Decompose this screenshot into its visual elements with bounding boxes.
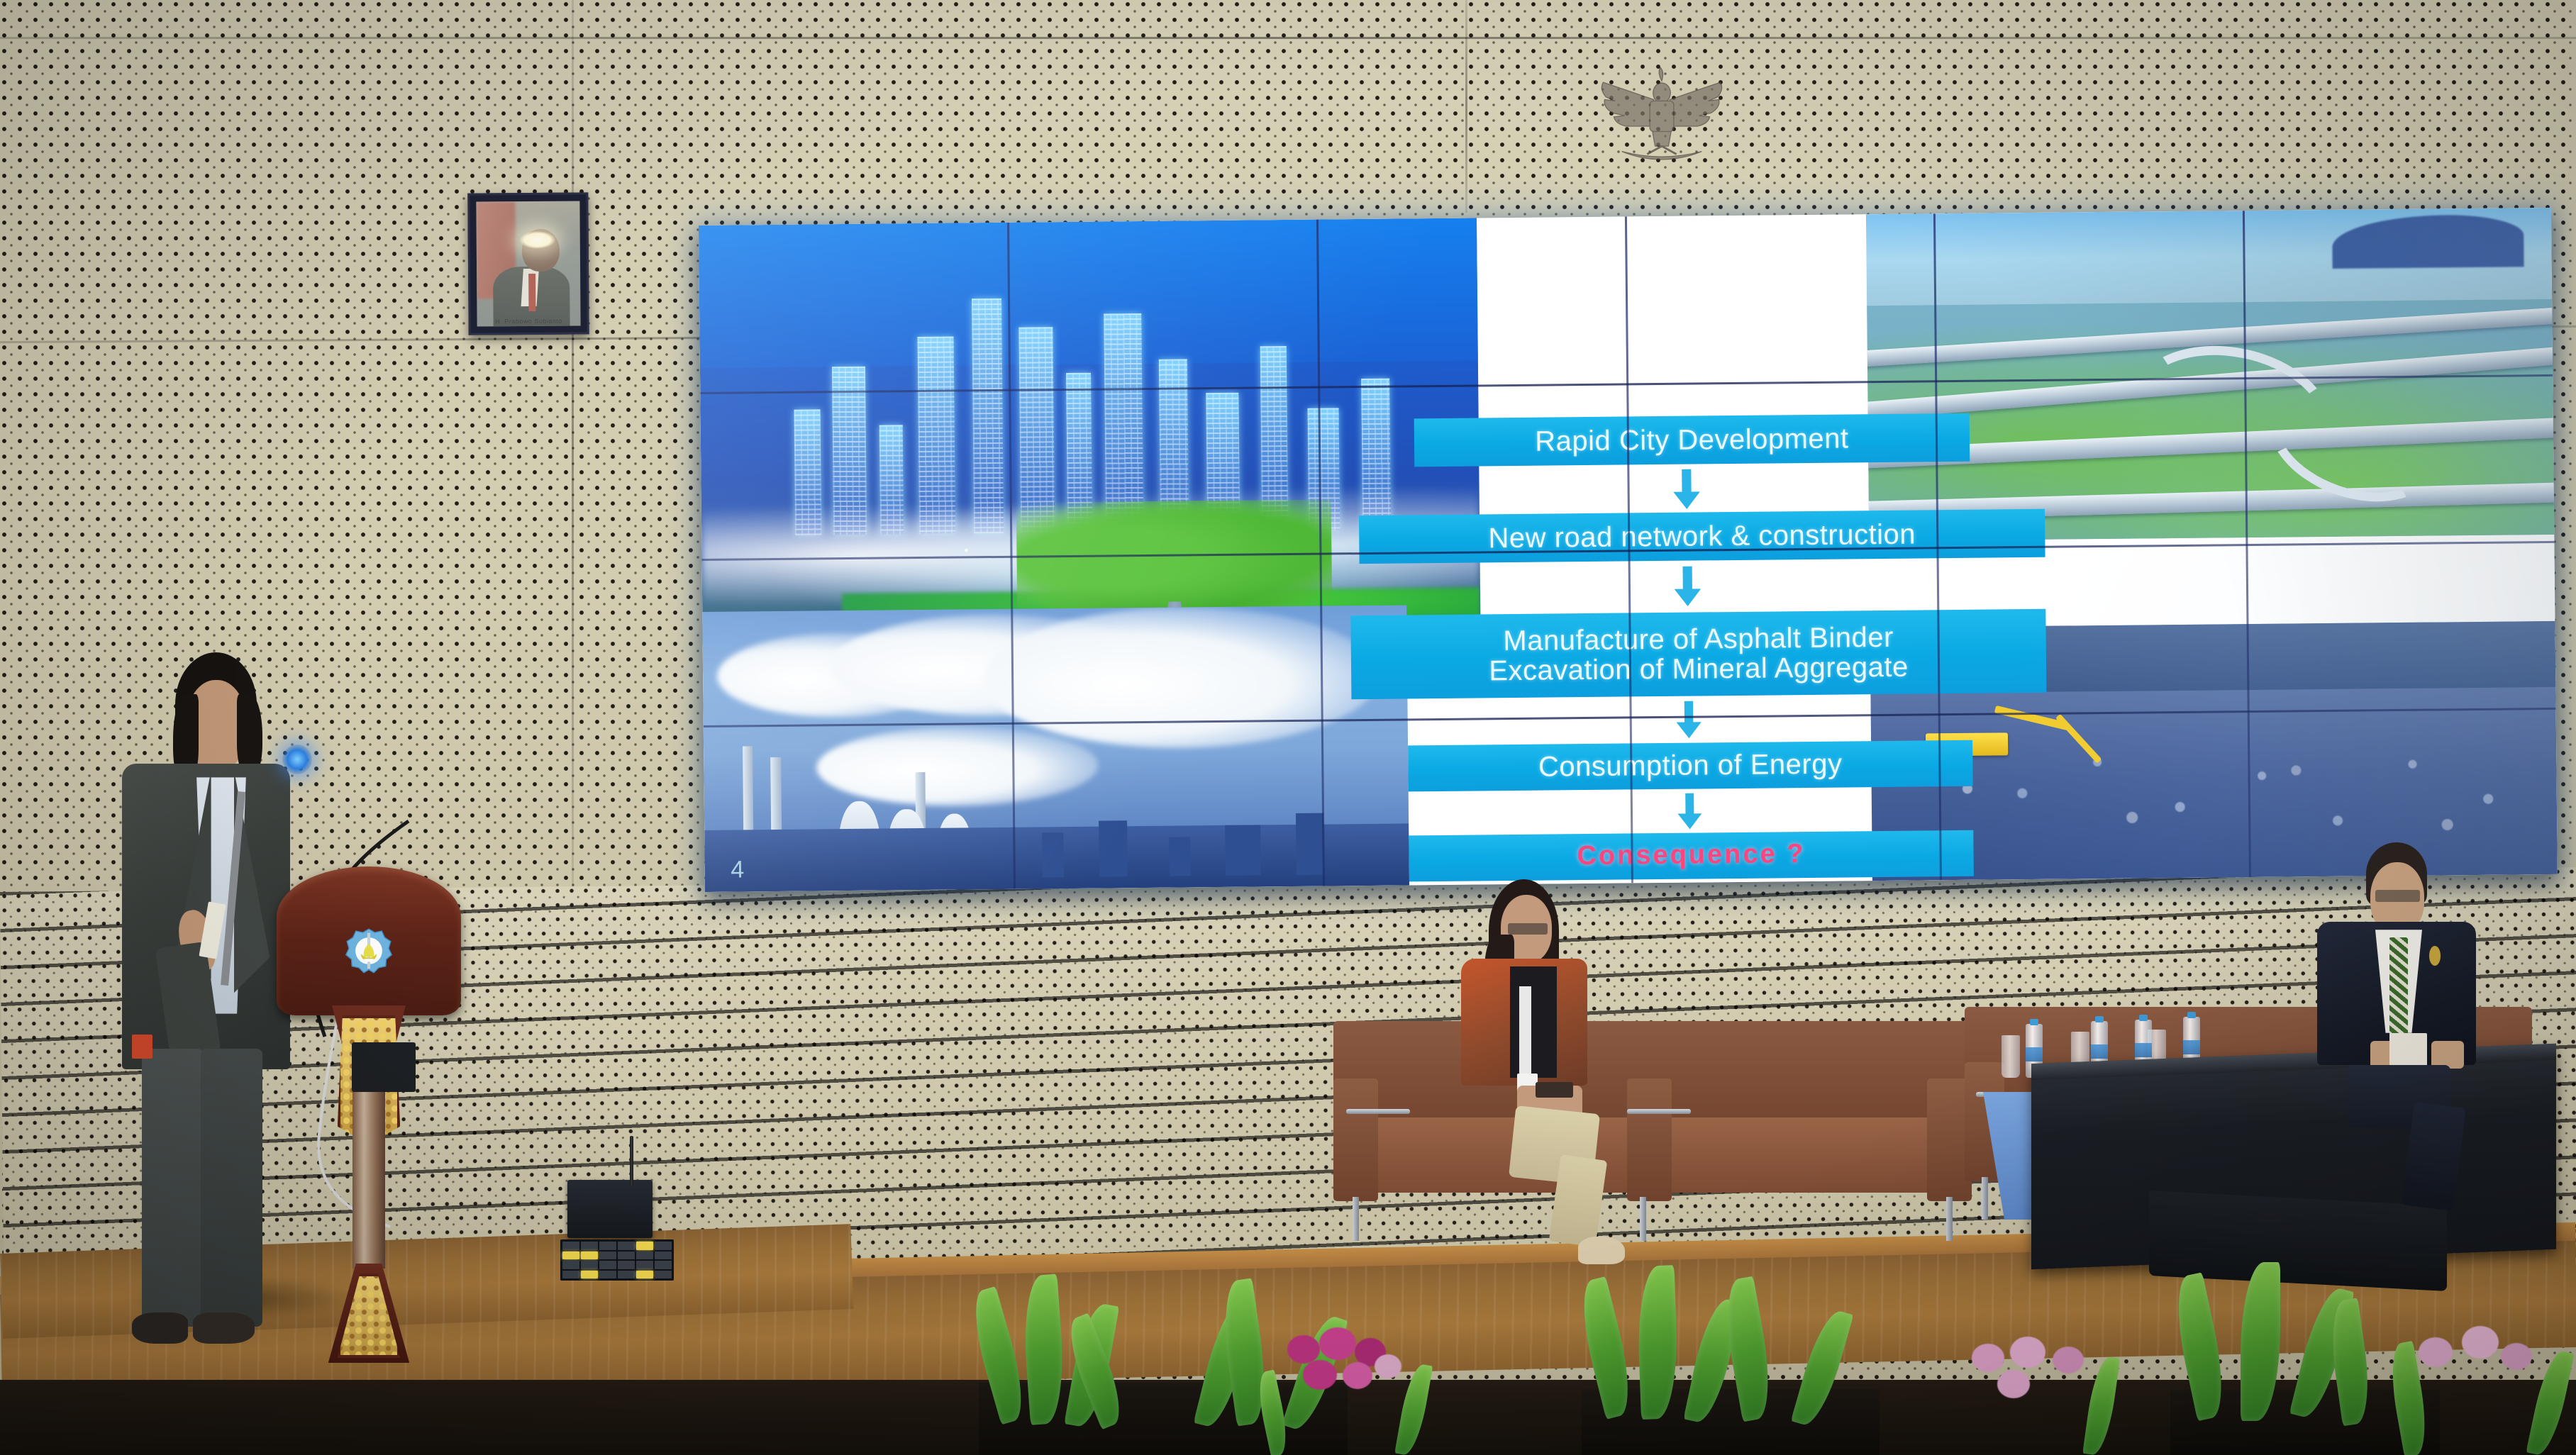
flower-bloom: [2053, 1347, 2084, 1373]
av-indicator-cell: [636, 1261, 653, 1269]
av-amplifier-unit[interactable]: [567, 1180, 653, 1238]
stage-flowers-center: [1255, 1319, 1454, 1455]
bottle-cap: [2187, 1012, 2196, 1018]
stage-flowers-far-right: [2397, 1312, 2576, 1455]
speaker-podium: [277, 866, 461, 1363]
lapel-pin: [2429, 946, 2441, 966]
shoe: [1578, 1237, 1625, 1264]
lanyard: [1519, 986, 1531, 1081]
blue-indicator-light: [282, 745, 312, 774]
eyeglasses: [2375, 890, 2420, 902]
flower-bloom: [1375, 1354, 1401, 1378]
bottle-cap: [2095, 1016, 2104, 1022]
sofa-chrome-rail: [1346, 1109, 1410, 1114]
seated-panelist-man: [2305, 842, 2539, 1239]
av-indicator-cell: [655, 1251, 672, 1260]
trouser-leg: [142, 1049, 203, 1327]
flow-step-label-line1: Manufacture of Asphalt Binder: [1503, 623, 1894, 656]
plant-structure: [1169, 837, 1190, 876]
flower-stem-leaf: [2082, 1355, 2120, 1455]
drinking-glass: [2002, 1035, 2020, 1078]
flow-step-consequence: Consequence ?: [1409, 830, 1974, 881]
its-institutional-logo: [344, 926, 394, 976]
inner-top: [1510, 966, 1557, 1078]
bottle-label: [2091, 1044, 2108, 1059]
av-indicator-cell: [581, 1242, 598, 1250]
av-indicator-cell: [655, 1261, 672, 1269]
sofa-leg: [1946, 1197, 1953, 1241]
plant-structure: [1043, 832, 1064, 877]
slide-image-highway-interchange: [1865, 208, 2554, 541]
plant-structure: [1296, 813, 1325, 875]
av-indicator-cell: [599, 1251, 616, 1260]
sofa-leg: [1982, 1177, 1988, 1220]
red-badge: [132, 1035, 152, 1059]
av-indicator-cell: [599, 1271, 616, 1279]
flower-stem-leaf: [1394, 1362, 1433, 1455]
av-indicator-cell: [655, 1242, 672, 1250]
av-indicator-cell: [636, 1271, 653, 1279]
bottle-label: [2135, 1043, 2152, 1057]
slide-number: 4: [731, 856, 744, 883]
podium-control-box[interactable]: [352, 1042, 416, 1092]
flow-step-label: Consumption of Energy: [1538, 749, 1843, 782]
flow-arrow-down-icon: [1656, 566, 1719, 606]
av-indicator-cell: [562, 1271, 579, 1279]
stage-plant-center-right: [1582, 1290, 1880, 1455]
plant-structure: [1099, 820, 1127, 876]
flow-step-label: Rapid City Development: [1535, 423, 1849, 456]
video-wall-display[interactable]: Rapid City Development New road network …: [699, 208, 2558, 892]
glare-reflection: [520, 231, 555, 249]
flower-bloom: [2462, 1326, 2499, 1359]
flower-bloom: [1972, 1344, 2004, 1372]
portrait-tie: [528, 274, 536, 311]
flow-arrow-down-icon: [1658, 701, 1721, 739]
av-indicator-cell: [599, 1261, 616, 1269]
flow-arrow-down-icon: [1655, 469, 1719, 509]
necktie: [2389, 937, 2408, 1041]
flow-step-label: Consequence ?: [1577, 841, 1805, 871]
flower-bloom: [2010, 1337, 2045, 1368]
eyeglasses: [1508, 923, 1548, 935]
av-indicator-cell: [636, 1242, 653, 1250]
smoke-plume: [816, 726, 1099, 807]
shoe: [193, 1312, 254, 1344]
av-indicator-cell: [618, 1271, 635, 1279]
city-sky: [699, 218, 1478, 368]
portrait-caption: H. Prabowo Subianto: [477, 317, 581, 325]
flow-step-rapid-city-development: Rapid City Development: [1414, 413, 1970, 467]
av-indicator-cell: [618, 1251, 635, 1260]
flower-stem-leaf: [2526, 1348, 2575, 1455]
av-indicator-cell: [562, 1251, 579, 1260]
flower-bloom: [1303, 1360, 1337, 1390]
bottle-label: [2026, 1047, 2043, 1061]
seated-panelist-woman: [1433, 879, 1667, 1276]
flow-arrow-down-icon: [1658, 793, 1721, 830]
sofa-armrest: [1333, 1078, 1378, 1202]
av-indicator-cell: [599, 1242, 616, 1250]
av-indicator-panel: [560, 1239, 674, 1281]
equipment-antenna: [630, 1136, 633, 1186]
presentation-slide: Rapid City Development New road network …: [699, 208, 2558, 892]
wall-seam-vertical: [1465, 0, 1467, 213]
flower-bloom: [2419, 1337, 2453, 1367]
handheld-device: [1536, 1082, 1573, 1098]
av-indicator-cell: [618, 1261, 635, 1269]
av-indicator-cell: [618, 1242, 635, 1250]
garuda-pancasila-emblem: [1594, 62, 1729, 169]
background-hill: [2332, 215, 2524, 269]
flow-step-label-line2: Excavation of Mineral Aggregate: [1489, 652, 1909, 686]
av-indicator-cell: [581, 1251, 598, 1260]
bottle-cap: [2139, 1015, 2148, 1021]
framed-official-portrait: H. Prabowo Subianto: [467, 192, 589, 335]
flow-step-consumption-of-energy: Consumption of Energy: [1408, 740, 1973, 791]
wall-seam: [0, 37, 2576, 39]
bottle-cap: [2030, 1019, 2038, 1025]
flower-bloom: [1287, 1335, 1320, 1364]
av-indicator-cell: [581, 1261, 598, 1269]
sofa-leg: [1353, 1197, 1359, 1241]
plant-structure: [1226, 825, 1261, 876]
flower-stem-leaf: [1254, 1370, 1292, 1455]
portrait-photo: H. Prabowo Subianto: [476, 201, 580, 326]
flow-step-new-road-network: New road network & construction: [1359, 509, 2045, 564]
conference-scene: H. Prabowo Subianto: [0, 0, 2576, 1455]
flower-bloom: [1997, 1370, 2030, 1398]
av-indicator-cell: [581, 1271, 598, 1279]
av-indicator-cell: [562, 1242, 579, 1250]
podium-column: [352, 1070, 386, 1269]
av-indicator-cell: [655, 1271, 672, 1279]
shoe: [132, 1312, 188, 1344]
wall-seam-vertical: [572, 0, 574, 886]
av-indicator-cell: [562, 1261, 579, 1269]
stage-flowers-right: [1950, 1326, 2163, 1455]
flower-bloom: [1319, 1327, 1356, 1360]
flower-bloom: [1343, 1362, 1372, 1389]
flow-step-label: New road network & construction: [1488, 520, 1916, 554]
slide-image-industrial-smokestacks: [702, 606, 1409, 892]
flower-bloom: [2501, 1343, 2532, 1370]
bottle-label: [2183, 1040, 2200, 1054]
av-indicator-cell: [636, 1251, 653, 1260]
flow-step-manufacture-excavation: Manufacture of Asphalt Binder Excavation…: [1351, 609, 2047, 699]
